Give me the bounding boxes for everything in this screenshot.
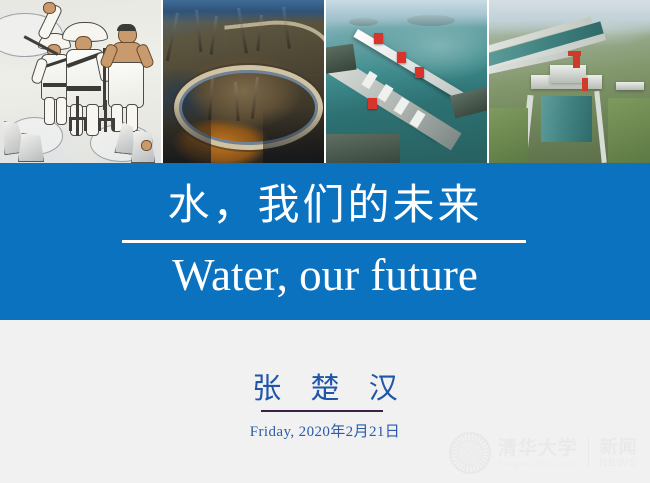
author-underline-rule	[261, 410, 383, 412]
spade-tine	[76, 117, 79, 131]
river-bank	[326, 43, 357, 74]
author-name: 张 楚 汉	[0, 372, 650, 406]
spade-tine	[84, 117, 87, 131]
shadowed-canyon	[163, 98, 211, 163]
spade-tine	[112, 118, 115, 131]
photo-yellow-river-meander	[163, 0, 324, 163]
photo-strip	[0, 0, 650, 163]
ridge	[195, 10, 202, 52]
downstream-pool	[541, 96, 593, 142]
tsinghua-wordmark: 清华大学 Tsinghua University	[498, 438, 578, 469]
reservoir-island	[407, 15, 455, 26]
ridge	[209, 16, 217, 55]
shadowed-canyon	[263, 108, 324, 163]
rock	[18, 133, 44, 162]
spade-tine	[98, 118, 101, 131]
red-crane-tower	[582, 78, 588, 91]
title-divider-rule	[122, 240, 526, 243]
small-figure-head	[141, 140, 152, 151]
photo-three-gorges-dam	[326, 0, 487, 163]
lower-panel: 张 楚 汉 Friday, 2020年2月21日 清华大学 Tsinghua U…	[0, 320, 650, 483]
farm-field	[608, 98, 650, 163]
title-banner: 水，我们的未来 Water, our future	[0, 163, 650, 320]
construction-yard	[326, 134, 400, 163]
news-label-en: NEWS	[599, 457, 638, 470]
ridge	[166, 13, 179, 61]
access-road	[595, 91, 607, 163]
photo-yu-the-great	[0, 0, 161, 163]
gantry-crane	[368, 98, 377, 109]
tsinghua-name-en: Tsinghua University	[498, 459, 578, 469]
spade-handle	[104, 100, 107, 132]
title-chinese: 水，我们的未来	[0, 179, 650, 231]
spade-tine	[69, 117, 72, 131]
gantry-crane	[397, 52, 406, 63]
reservoir-island	[349, 18, 378, 26]
photo-water-diversion-canal	[489, 0, 650, 163]
farm-field	[489, 108, 528, 163]
service-building	[616, 82, 643, 90]
control-building	[550, 65, 585, 83]
red-crane-arm	[568, 51, 581, 56]
presentation-slide: 水，我们的未来 Water, our future 张 楚 汉 Friday, …	[0, 0, 650, 483]
gantry-crane	[374, 33, 383, 44]
presentation-date: Friday, 2020年2月21日	[0, 422, 650, 442]
gantry-crane	[415, 67, 424, 78]
title-english: Water, our future	[0, 247, 650, 303]
watermark-divider	[588, 438, 589, 468]
